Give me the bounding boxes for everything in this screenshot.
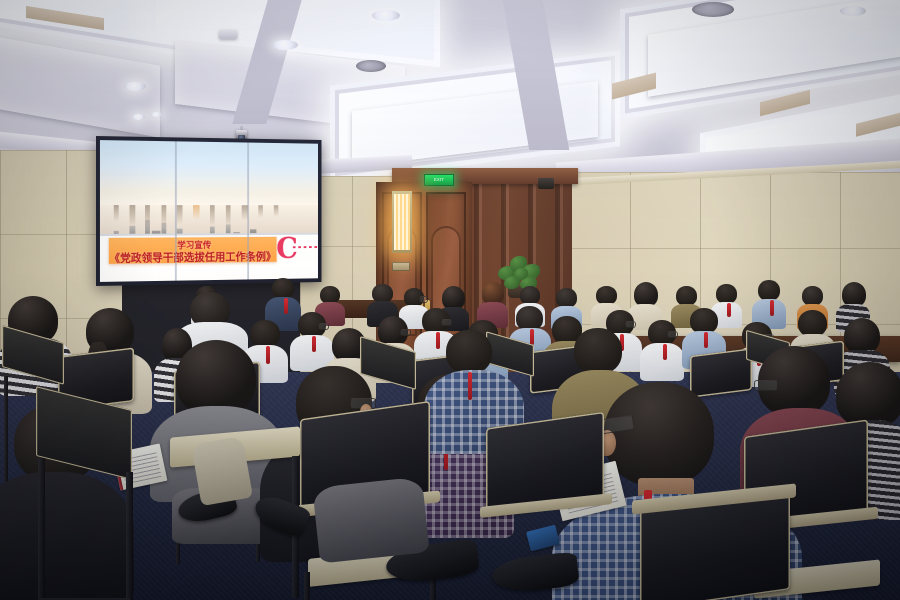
downlight-3 [124, 82, 146, 91]
ceiling-vent-2 [692, 2, 734, 17]
trouser-leg [191, 436, 253, 506]
lanyard [468, 372, 472, 400]
slide-title-line2: 《党政领导干部选拔任用工作条例》 [106, 248, 280, 266]
slide-lower-area: 学习宣传 《党政领导干部选拔任用工作条例》 C [100, 233, 318, 282]
video-wall-seam-2 [247, 143, 249, 280]
downlight-2 [272, 40, 298, 50]
downlight-6 [840, 6, 866, 16]
downlight-4 [132, 114, 145, 120]
exit-sign: EXIT [424, 174, 454, 186]
slide-water-reflection [100, 205, 318, 233]
wall-speaker [538, 178, 554, 189]
light-switch-plate[interactable] [392, 262, 410, 271]
downlight-5 [151, 112, 162, 117]
exit-sign-label: EXIT [434, 178, 444, 182]
video-wall-seam-1 [175, 141, 177, 280]
downlight-1 [372, 10, 400, 21]
smoke-detector [219, 30, 237, 39]
video-wall: 学习宣传 《党政领导干部选拔任用工作条例》 C [96, 136, 322, 286]
ceiling-vent-1 [356, 60, 386, 72]
slide-logo-dots [293, 246, 318, 248]
video-wall-screen: 学习宣传 《党政领导干部选拔任用工作条例》 C [100, 140, 318, 282]
wall-sconce [392, 191, 412, 253]
slide-logo-letter: C [276, 234, 298, 263]
trouser-leg [312, 476, 429, 563]
conference-room-photo: EXIT [0, 0, 900, 600]
slide-title-banner: 学习宣传 《党政领导干部选拔任用工作条例》 [109, 236, 276, 263]
eyeglasses [754, 380, 778, 391]
